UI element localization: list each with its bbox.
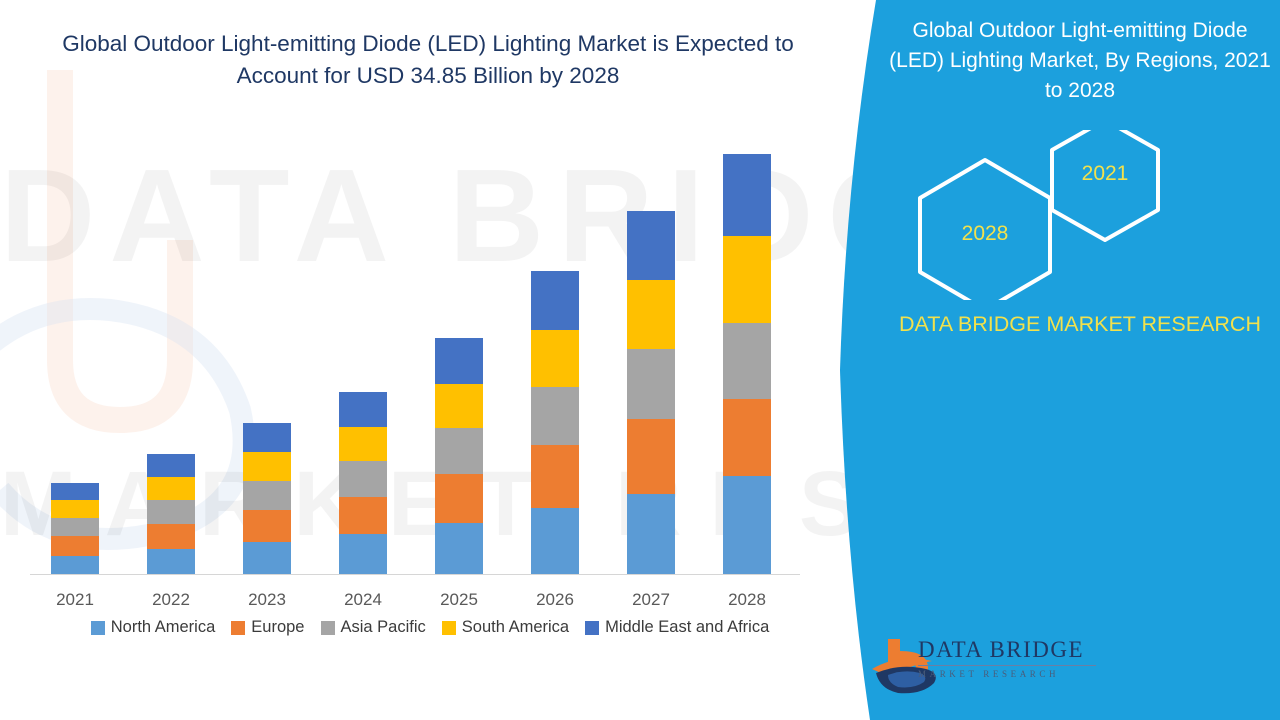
legend-swatch-icon [321,621,335,635]
x-axis-tick-labels: 20212022202320242025202620272028 [30,590,800,616]
logo-main-text: DATA BRIDGE [918,638,1108,661]
x-axis-label: 2028 [712,590,782,610]
logo-divider [918,665,1096,666]
bar-segment [723,154,771,236]
legend-label: North America [111,618,216,637]
chart-legend: North AmericaEuropeAsia PacificSouth Ame… [0,618,860,637]
bar-segment [531,445,579,508]
hex-badge-2021: 2021 [1060,162,1150,186]
hex-badge-2028: 2028 [940,222,1030,246]
hexagon-badges: 2021 2028 [890,130,1270,300]
bar-segment [51,518,99,536]
bar-segment [627,280,675,348]
bar-segment [723,236,771,323]
legend-item[interactable]: South America [442,618,569,637]
bar-segment [435,474,483,523]
bar-segment [723,476,771,575]
bar-segment [339,461,387,496]
bar-segment [339,534,387,575]
x-axis-line [30,574,800,575]
x-axis-label: 2022 [136,590,206,610]
bar-segment [147,549,195,575]
bar-segment [147,454,195,477]
legend-swatch-icon [442,621,456,635]
bar-stack [147,454,195,575]
infographic-canvas: DATA BRIDGE MARKET RESEARCH Global Outdo… [0,0,1280,720]
bar-segment [243,510,291,542]
x-axis-label: 2024 [328,590,398,610]
bar-stack [627,211,675,575]
bar-segment [51,536,99,555]
bar-segment [531,387,579,445]
bar-segment [51,483,99,500]
legend-swatch-icon [585,621,599,635]
bar-stack [531,271,579,575]
bar-segment [627,419,675,494]
bar-segment [723,323,771,399]
legend-swatch-icon [231,621,245,635]
bar-stack [339,392,387,575]
legend-label: Asia Pacific [341,618,426,637]
stacked-bar-chart: 20212022202320242025202620272028 North A… [0,0,860,720]
legend-item[interactable]: North America [91,618,216,637]
bar-segment [339,392,387,427]
bar-segment [243,423,291,453]
bar-segment [435,523,483,575]
x-axis-label: 2025 [424,590,494,610]
bar-segment [531,271,579,330]
bar-segment [147,500,195,524]
legend-label: Middle East and Africa [605,618,769,637]
logo-sub-text: MARKET RESEARCH [918,669,1108,679]
bar-segment [51,500,99,518]
bar-segment [339,497,387,535]
bar-segment [531,330,579,387]
bar-segment [147,477,195,500]
bar-stack [243,423,291,575]
legend-swatch-icon [91,621,105,635]
bar-segment [51,556,99,575]
bar-segment [627,211,675,280]
bar-segment [243,452,291,480]
legend-label: South America [462,618,569,637]
logo-wordmark: DATA BRIDGE MARKET RESEARCH [918,638,1108,679]
chart-plot-area [30,120,820,575]
bar-segment [723,399,771,476]
bar-segment [435,428,483,474]
bar-segment [627,494,675,575]
legend-item[interactable]: Europe [231,618,304,637]
legend-item[interactable]: Middle East and Africa [585,618,769,637]
x-axis-label: 2026 [520,590,590,610]
panel-content: Global Outdoor Light-emitting Diode (LED… [840,0,1280,720]
bar-stack [51,483,99,575]
panel-title: Global Outdoor Light-emitting Diode (LED… [885,16,1275,105]
x-axis-label: 2027 [616,590,686,610]
bar-segment [435,338,483,384]
bar-stack [723,154,771,575]
bar-segment [243,481,291,511]
legend-label: Europe [251,618,304,637]
x-axis-label: 2021 [40,590,110,610]
bar-segment [531,508,579,575]
brand-name: DATA BRIDGE MARKET RESEARCH [880,310,1280,339]
bar-segment [147,524,195,549]
legend-item[interactable]: Asia Pacific [321,618,426,637]
bar-stack [435,338,483,575]
bar-segment [627,349,675,420]
bar-segment [435,384,483,428]
x-axis-label: 2023 [232,590,302,610]
bar-segment [243,542,291,575]
bar-segment [339,427,387,461]
